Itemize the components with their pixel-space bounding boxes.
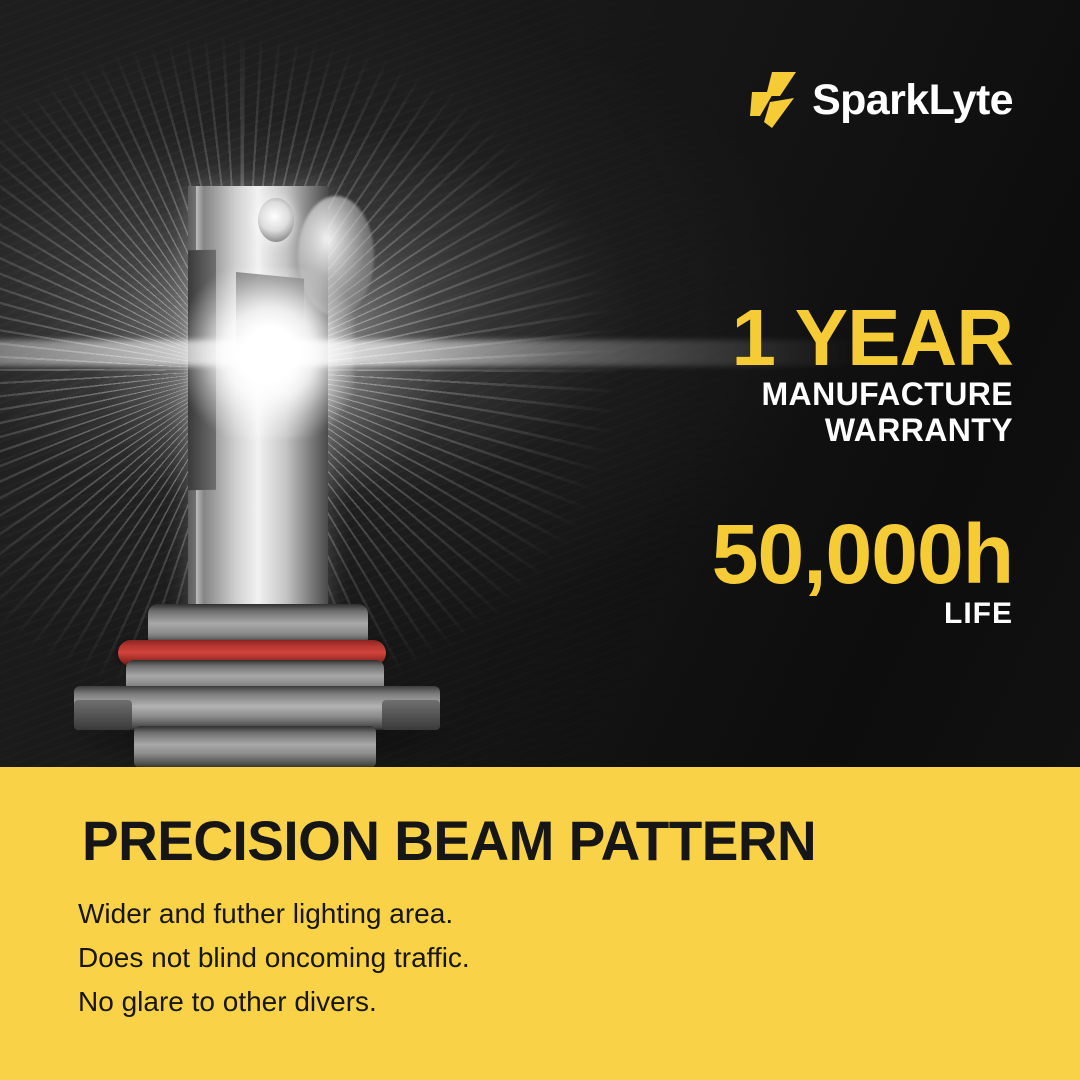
product-feature-poster: SparkLyte 1 YEAR MANUFACTURE WARRANTY 50…	[0, 0, 1080, 1080]
warranty-sub-line-2: WARRANTY	[493, 413, 1013, 449]
brand-name: SparkLyte	[812, 79, 1013, 122]
lifespan-headline: 50,000h	[493, 514, 1013, 595]
spec-callouts: 1 YEAR MANUFACTURE WARRANTY 50,000h LIFE	[493, 300, 1013, 631]
panel-line: Does not blind oncoming traffic.	[78, 936, 470, 980]
spec-lifespan: 50,000h LIFE	[493, 514, 1013, 630]
panel-line: Wider and futher lighting area.	[78, 892, 470, 936]
panel-line: No glare to other divers.	[78, 980, 470, 1024]
spec-warranty: 1 YEAR MANUFACTURE WARRANTY	[493, 300, 1013, 448]
panel-body: Wider and futher lighting area. Does not…	[78, 892, 470, 1025]
feature-panel: PRECISION BEAM PATTERN Wider and futher …	[0, 767, 1080, 1080]
panel-title: PRECISION BEAM PATTERN	[82, 813, 816, 869]
led-chip	[258, 198, 294, 242]
led-headlight-bulb	[0, 0, 560, 767]
lightning-bolt-icon	[750, 72, 798, 128]
light-burst-core	[186, 268, 354, 438]
hero-dark-panel: SparkLyte 1 YEAR MANUFACTURE WARRANTY 50…	[0, 0, 1080, 767]
warranty-headline: 1 YEAR	[493, 300, 1013, 377]
brand-logo: SparkLyte	[750, 72, 1013, 128]
warranty-sub-line-1: MANUFACTURE	[493, 377, 1013, 413]
bulb-flange-tab-left	[74, 700, 132, 730]
lifespan-sub-line-1: LIFE	[493, 597, 1013, 631]
bulb-flange-tab-right	[382, 700, 440, 730]
bulb-base-socket	[134, 726, 376, 767]
